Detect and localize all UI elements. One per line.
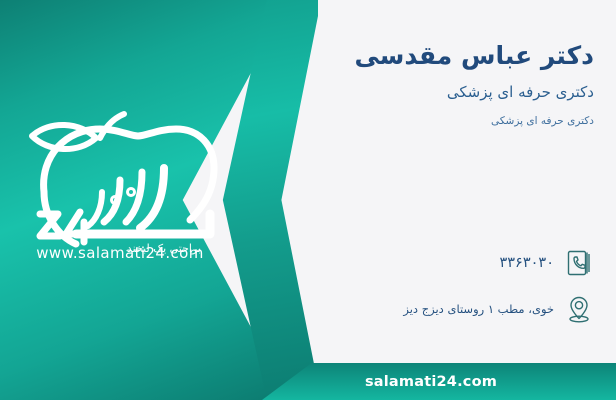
map-pin-icon bbox=[564, 292, 594, 326]
phone-number: ۳۳۶۳۰۳۰ bbox=[264, 255, 554, 271]
footer-website: salamati24.com bbox=[365, 374, 513, 390]
logo-website: www.salamati24.com bbox=[14, 244, 226, 262]
page-title: دکتر عباس مقدسی bbox=[224, 40, 594, 71]
phonebook-icon bbox=[564, 246, 594, 280]
contact-row-address[interactable]: خوی، مطب ۱ روستای دیزج دیز bbox=[264, 292, 594, 326]
contact-details: ۳۳۶۳۰۳۰ خوی، مطب ۱ روستای دیزج دیز bbox=[264, 246, 594, 338]
specialty-primary: دکتری حرفه ای پزشکی bbox=[224, 83, 594, 101]
doctor-info: دکتر عباس مقدسی دکتری حرفه ای پزشکی دکتر… bbox=[224, 40, 594, 127]
specialty-secondary: دکتری حرفه ای پزشکی bbox=[224, 115, 594, 127]
doctor-profile-card: براحتی یک لبخند www.salamati24.com دکتر … bbox=[0, 0, 616, 400]
clinic-address: خوی، مطب ۱ روستای دیزج دیز bbox=[264, 302, 554, 316]
footer-banner[interactable]: salamati24.com bbox=[262, 363, 616, 400]
salamati24-logo: براحتی یک لبخند www.salamati24.com bbox=[14, 96, 226, 271]
contact-row-phone[interactable]: ۳۳۶۳۰۳۰ bbox=[264, 246, 594, 280]
